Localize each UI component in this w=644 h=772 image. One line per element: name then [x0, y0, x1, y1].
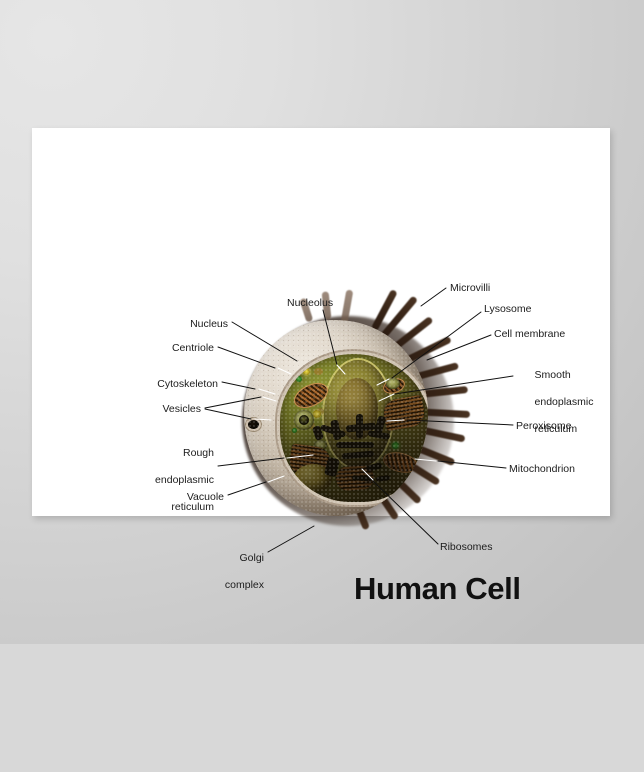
label-golgi-complex: Golgi complex — [162, 539, 264, 606]
centriole-organelle — [313, 410, 321, 418]
label-peroxisome: Peroxisome — [516, 420, 571, 433]
cytoskeleton-strand — [330, 419, 342, 440]
peroxisome-organelle — [296, 376, 302, 382]
ribosome-cluster — [376, 475, 391, 482]
label-nucleolus: Nucleolus — [287, 297, 333, 310]
label-ribosomes: Ribosomes — [440, 541, 493, 554]
label-cytoskeleton: Cytoskeleton — [82, 378, 218, 391]
mitochondrion-organelle — [382, 450, 418, 474]
mitochondrion-organelle — [383, 377, 406, 395]
label-smooth-er: Smooth endoplasmic reticulum — [517, 356, 593, 450]
cytoskeleton-strand — [312, 425, 324, 441]
golgi-complex-organelle — [335, 465, 375, 492]
cytoplasm-cutaway — [280, 354, 428, 502]
vesicle-organelle — [314, 440, 327, 450]
label-rough-er-line2: endoplasmic — [155, 474, 214, 486]
chromatin-blotch — [306, 422, 315, 429]
peroxisome-organelle — [292, 428, 297, 433]
cell-membrane-body — [244, 320, 428, 516]
membrane-pore-icon — [248, 420, 259, 429]
cytoskeleton-strand — [346, 422, 377, 432]
label-mitochondrion: Mitochondrion — [509, 463, 575, 476]
smooth-er-organelle — [382, 395, 427, 431]
cytoskeleton-strand — [356, 414, 363, 438]
cytoskeleton-strand — [324, 457, 340, 477]
cytoskeleton-strand — [320, 424, 347, 438]
human-cell-illustration — [224, 304, 446, 536]
vesicle-organelle — [299, 415, 309, 425]
membrane-pore-icon — [410, 416, 421, 425]
label-cell-membrane: Cell membrane — [494, 328, 565, 341]
ribosome-cluster — [352, 475, 372, 482]
vacuole-organelle — [294, 464, 332, 492]
nucleolus-organelle — [336, 378, 378, 440]
poster-canvas: Nucleus Centriole Cytoskeleton Vesicles … — [32, 128, 610, 516]
chromatin-blotch — [314, 368, 323, 375]
nucleus-organelle — [324, 360, 392, 468]
label-centriole: Centriole — [98, 342, 214, 355]
mitochondrion-organelle — [292, 380, 331, 412]
label-vesicles: Vesicles — [82, 403, 201, 416]
label-microvilli: Microvilli — [450, 282, 490, 295]
page-title: Human Cell — [354, 571, 521, 607]
label-golgi-line2: complex — [225, 579, 264, 591]
label-smooth-er-line1: Smooth — [535, 369, 571, 381]
cytoskeleton-strand — [368, 430, 391, 440]
lysosome-organelle — [386, 378, 400, 389]
centriole-organelle — [303, 368, 310, 375]
cytoskeleton-strand — [374, 415, 387, 435]
rough-er-organelle — [288, 443, 332, 478]
label-rough-er: Rough endoplasmic reticulum — [86, 434, 214, 528]
cytoskeleton-strand — [342, 451, 374, 460]
label-golgi-line1: Golgi — [239, 552, 264, 564]
peroxisome-organelle — [392, 442, 399, 449]
chromatin-blotch — [310, 388, 320, 396]
label-nucleus: Nucleus — [118, 318, 228, 331]
screenshot-stage: Nucleus Centriole Cytoskeleton Vesicles … — [0, 0, 644, 644]
cytoskeleton-strand — [366, 462, 383, 472]
label-smooth-er-line2: endoplasmic — [535, 396, 594, 408]
label-vacuole: Vacuole — [110, 491, 224, 504]
cytoskeleton-strand — [336, 442, 374, 448]
chromatin-blotch — [316, 408, 324, 415]
label-rough-er-line1: Rough — [183, 447, 214, 459]
label-lysosome: Lysosome — [484, 303, 531, 316]
vesicle-organelle — [294, 410, 314, 430]
